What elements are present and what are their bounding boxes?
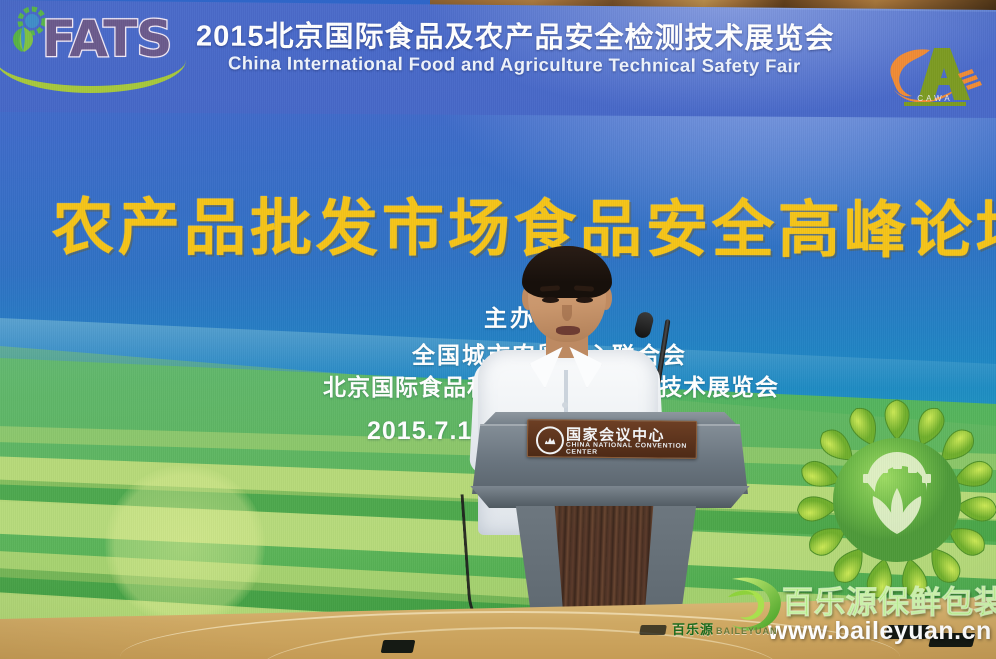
eye-left <box>542 297 559 303</box>
watermark-url: www.baileyuan.cn <box>768 617 992 646</box>
field-sun-circle <box>105 465 265 620</box>
watermark: 百乐源保鲜包装 www.baileyuan.cn 百乐源BAILEYUAN <box>690 571 990 655</box>
eye-right <box>576 297 593 303</box>
podium-ledge <box>466 486 754 508</box>
banner-title-cn: 2015北京国际食品及农产品安全检测技术展览会 <box>196 13 876 58</box>
mountain-star-icon <box>536 426 564 454</box>
hair <box>522 246 612 298</box>
nose <box>562 305 572 321</box>
backdrop-support-foot <box>639 625 667 635</box>
svg-text:CAWA: CAWA <box>917 94 952 103</box>
plaque-text-en: CHINA NATIONAL CONVENTION CENTER <box>566 442 703 457</box>
mouth <box>556 326 580 335</box>
watermark-brand-cn: 百乐源保鲜包装 <box>782 577 996 622</box>
backdrop-support-foot <box>381 640 416 653</box>
shirt-button <box>562 402 568 408</box>
podium-plaque: 国家会议中心 CHINA NATIONAL CONVENTION CENTER <box>527 419 697 459</box>
fats-green-arc <box>0 60 186 93</box>
photo-scene: FATS CAWA 2015北京国际食品及农产品安全检测技术展览会 China … <box>0 0 996 659</box>
watermark-badge-en: BAILEYUAN <box>716 626 778 636</box>
watermark-badge-cn: 百乐源 <box>672 622 714 637</box>
watermark-badge: 百乐源BAILEYUAN <box>672 619 778 638</box>
banner-title-en: China International Food and Agriculture… <box>228 52 888 77</box>
fats-logo: FATS <box>2 4 178 104</box>
cawa-wheat-icon: CAWA <box>874 38 992 112</box>
